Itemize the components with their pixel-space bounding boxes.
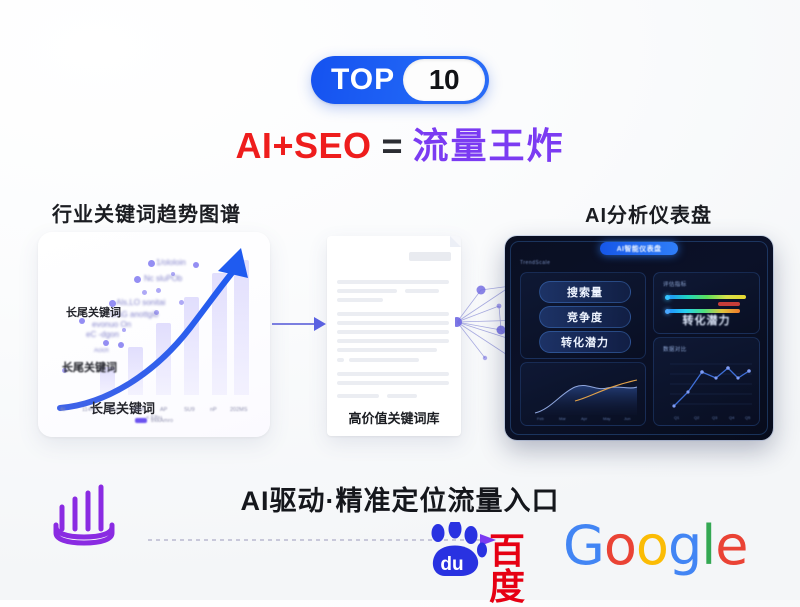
- doc-text-line: [337, 298, 383, 302]
- top-rank-badge: TOP 10: [311, 56, 489, 104]
- blurred-label: Als,LO sonitai: [116, 298, 165, 307]
- blurred-label: Aclch: [94, 348, 109, 354]
- doc-text-line: [387, 394, 417, 398]
- doc-text-line: [337, 312, 449, 316]
- top-badge-number: 10: [429, 66, 459, 94]
- area-tick: May: [603, 416, 611, 421]
- flow-arrow-icon: [272, 312, 327, 336]
- metric-pill-competition[interactable]: 竞争度: [539, 306, 631, 328]
- dashboard-brand: TrendScale: [520, 260, 550, 266]
- headline-ai-seo: AI+SEO: [235, 125, 371, 166]
- line-chart-svg: [654, 338, 759, 425]
- google-letter-G: G: [563, 514, 604, 577]
- bottom-tagline: AI驱动·精准定位流量入口: [0, 479, 800, 518]
- scatter-dot: [148, 260, 155, 267]
- svg-text:du: du: [440, 554, 463, 575]
- line-tick: Q2: [694, 415, 699, 420]
- doc-text-line: [349, 358, 419, 362]
- gauge-marker: [665, 295, 670, 300]
- page-title: AI+SEO=流量王炸: [0, 128, 800, 164]
- gauge-overlay-label: 转化潜力: [654, 312, 759, 328]
- google-letter-g: g: [668, 514, 701, 577]
- top-badge-circle: 10: [403, 59, 485, 101]
- doc-text-line: [337, 330, 449, 334]
- doc-text-line: [337, 321, 449, 325]
- gauge-alert-bar: [718, 302, 740, 306]
- metric-pill-label: 竞争度: [567, 309, 603, 325]
- legend-label: trkkAmro: [151, 418, 173, 424]
- keyword-library-document: 高价值关键词库: [327, 236, 461, 436]
- gauge-panel: 评估指标 转化潜力: [653, 272, 760, 334]
- baidu-logo[interactable]: du 百度: [425, 522, 555, 578]
- right-section-title: AI分析仪表盘: [585, 199, 712, 228]
- metric-pill-label: 搜索量: [567, 284, 603, 300]
- blurred-label: eC -dgon: [86, 330, 119, 339]
- metric-pill-conversion[interactable]: 转化潜力: [539, 331, 631, 353]
- network-node: [455, 317, 462, 327]
- network-node: [483, 356, 487, 360]
- line-tick: Q3: [712, 415, 717, 420]
- doc-text-line: [337, 394, 379, 398]
- metric-pill-search-volume[interactable]: 搜索量: [539, 281, 631, 303]
- baidu-paw-icon: du: [425, 522, 487, 578]
- top-badge-word: TOP: [331, 65, 395, 95]
- doc-text-line: [337, 348, 437, 352]
- bar-chart-pedestal-icon: [48, 481, 120, 547]
- doc-bullet: [337, 358, 344, 362]
- keyword-label: 长尾关键词: [62, 359, 117, 375]
- baidu-wordmark: 百度: [489, 533, 555, 605]
- doc-text-line: [405, 289, 439, 293]
- gauge-panel-title: 评估指标: [663, 280, 687, 288]
- google-logo[interactable]: Google: [563, 519, 747, 573]
- blurred-label: 1/ololoin: [156, 258, 186, 267]
- slide-canvas: TOP 10 AI+SEO=流量王炸 行业关键词趋势图谱 AI分析仪表盘: [0, 0, 800, 600]
- metric-pill-label: 转化潜力: [561, 334, 609, 350]
- area-tick: Feb: [537, 416, 544, 421]
- chart-plot-area: 1/ololoin Nc sluPOb Als,LO sonitai OAG a…: [38, 232, 270, 437]
- legend-swatch: [135, 418, 147, 423]
- scatter-dot: [142, 290, 147, 295]
- scatter-dot: [134, 276, 141, 283]
- line-tick: Q4: [729, 415, 734, 420]
- doc-text-line: [337, 339, 449, 343]
- chart-legend: trkkAmro: [38, 412, 270, 430]
- dashboard-header-pill: AI智能仪表盘: [600, 242, 678, 255]
- metric-pills-panel: 搜索量 竞争度 转化潜力: [520, 272, 646, 359]
- keyword-label: 长尾关键词: [66, 304, 121, 320]
- scatter-dot: [103, 340, 109, 346]
- ai-dashboard: AI智能仪表盘 TrendScale 搜索量 竞争度 转化潜力 评估指标 转化潜…: [505, 236, 773, 440]
- dashboard-header-label: AI智能仪表盘: [617, 244, 662, 254]
- google-letter-o1: o: [604, 514, 636, 577]
- google-letter-e: e: [715, 514, 747, 577]
- scatter-dot: [193, 262, 199, 268]
- blurred-label: evonuo On: [92, 320, 131, 329]
- document-label: 高价值关键词库: [327, 408, 461, 427]
- line-chart-panel: 数据对比 Q1 Q2 Q3 Q4: [653, 337, 760, 426]
- doc-text-line: [337, 280, 449, 284]
- doc-header-block: [409, 252, 451, 261]
- headline-equals: =: [382, 125, 403, 166]
- left-section-title: 行业关键词趋势图谱: [52, 198, 241, 227]
- google-letter-l: l: [701, 514, 715, 577]
- doc-text-line: [337, 289, 397, 293]
- network-node: [477, 286, 486, 295]
- scatter-dot: [179, 300, 184, 305]
- area-tick: Apr: [581, 416, 587, 421]
- line-tick: Q5: [745, 415, 750, 420]
- headline-result: 流量王炸: [413, 125, 565, 166]
- doc-text-line: [337, 381, 449, 385]
- area-chart-panel: Feb Mar Apr May Jun: [520, 362, 646, 426]
- line-tick: Q1: [674, 415, 679, 420]
- area-tick: Jun: [624, 416, 630, 421]
- network-node: [497, 304, 502, 309]
- scatter-dot: [118, 342, 124, 348]
- gauge-bar-1: [668, 295, 746, 299]
- google-letter-o2: o: [636, 514, 668, 577]
- doc-text-line: [337, 372, 449, 376]
- area-tick: Mar: [559, 416, 566, 421]
- keyword-trend-chart-card: 1/ololoin Nc sluPOb Als,LO sonitai OAG a…: [38, 232, 270, 437]
- blurred-label: Nc sluPOb: [144, 274, 182, 283]
- scatter-dot: [156, 288, 161, 293]
